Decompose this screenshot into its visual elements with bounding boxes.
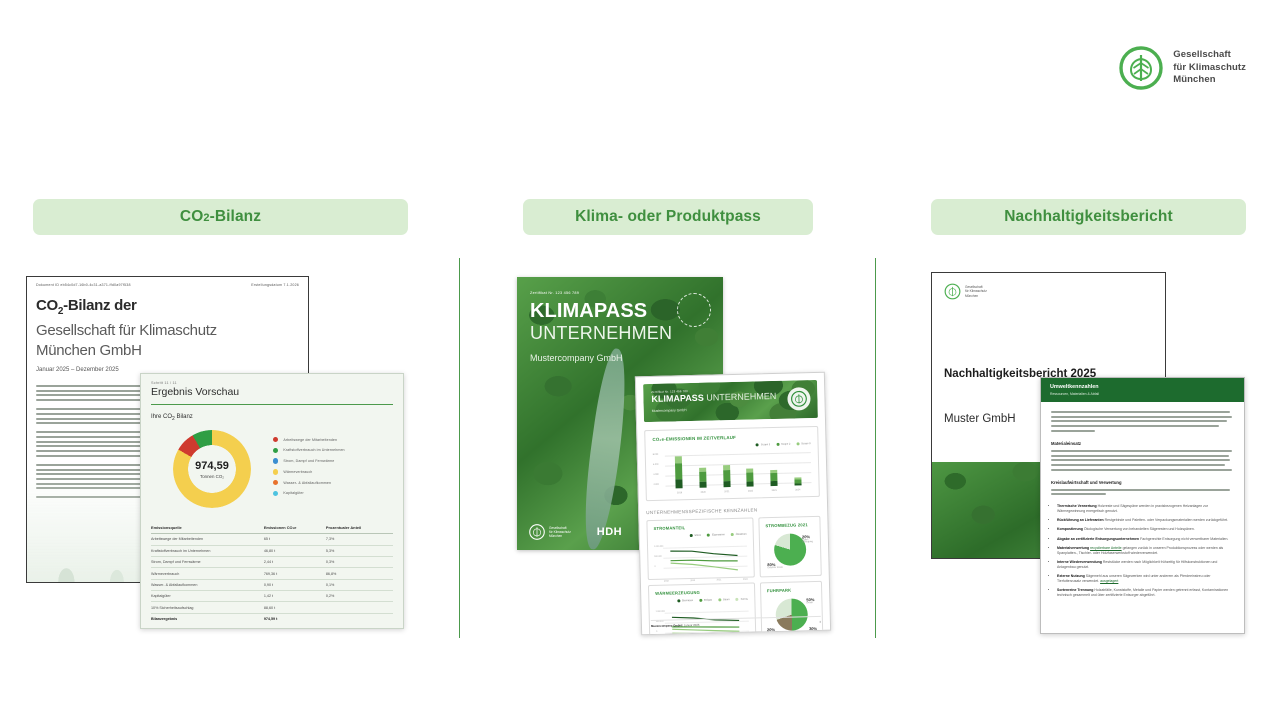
table-row: Wärmeverbrauch769,36 t86,8%	[151, 568, 393, 579]
legend-item: Wasser- & Abfallaufkommen	[273, 480, 345, 485]
legend-item: Scope 2	[776, 443, 790, 446]
legend-item: Scope 3	[796, 442, 810, 445]
emissions-table-wrapper: Emissionsquelle Emissionen CO₂e Prozentu…	[141, 525, 403, 629]
table-row: Strom, Dampf und Fernwärme2,44 t0,3%	[151, 556, 393, 567]
bar	[699, 468, 706, 488]
column-header-label: CO2-Bilanz	[180, 208, 261, 226]
subsection-body	[1041, 450, 1244, 471]
klimapass-subtitle: UNTERNEHMEN	[530, 322, 710, 344]
legend-label: Wärmeverbrauch	[283, 470, 312, 474]
section-heading: Umweltkennzahlen	[1050, 384, 1235, 390]
leaf-circle-logo-icon	[529, 524, 545, 540]
legend-label: Wasser- & Abfallaufkommen	[283, 481, 331, 485]
legend-item: Scope 1	[756, 443, 770, 446]
col-header-source: Emissionsquelle	[151, 525, 264, 534]
section-header-bar: Umweltkennzahlen Ressourcen, Materialien…	[1041, 378, 1244, 402]
total-value: 974,59 t	[264, 613, 326, 624]
kpi-value: 20%Eigen-erzeugung	[802, 534, 813, 543]
title-line-3: München GmbH	[36, 341, 299, 361]
document-meta: Dokument ID eb54c0d7-16b0-4c31-a371-ffd0…	[27, 277, 308, 287]
verwertung-bullet-list: Thermische Verwertung Holzreste und Säge…	[1041, 498, 1244, 598]
klimapass-company: Mustercompany GmbH	[530, 353, 710, 363]
document-created-date: Erstellungsdatum 7.1.2026	[251, 283, 299, 287]
report-brand-text: Gesellschaft für Klimaschutz München	[965, 285, 987, 298]
table-row: Kapitalgüter1,42 t0,2%	[151, 591, 393, 602]
certificate-number: Zertifikat Nr. 123 456 789	[530, 291, 710, 295]
donut-total-unit: Tonnen CO₂	[200, 474, 224, 479]
legend-label: Strom, Dampf und Fernwärme	[283, 459, 334, 463]
footer-page-number: 3	[819, 620, 821, 624]
banner-company: Mustercompany GmbH	[652, 405, 810, 413]
klimapass-title: KLIMAPASS	[530, 300, 710, 322]
table-row: 10% Sicherheitsaufschlag88,60 t	[151, 602, 393, 613]
col-header-share: Prozentualer Anteil	[326, 525, 393, 534]
section-subheading: Ressourcen, Materialien & Abfall	[1050, 392, 1235, 396]
title-line-2: Gesellschaft für Klimaschutz	[36, 321, 299, 341]
column-divider-2	[875, 258, 876, 638]
emissions-donut-section: 974,59 Tonnen CO₂ Arbeitswege der Mitarb…	[151, 430, 393, 508]
list-item: Kompostierung Ökologische Verwertung von…	[1057, 527, 1234, 532]
column-header-label: Nachhaltigkeitsbericht	[1004, 208, 1172, 226]
kpi-title: STROMBEZUG 2021	[765, 522, 813, 528]
subsection-body-2	[1041, 489, 1244, 496]
donut-legend: Arbeitswege der Mitarbeitenden Kraftstof…	[273, 437, 345, 502]
legend-label: Scope 2	[781, 443, 790, 446]
subsection-title-materialeinsatz: Materialeinsatz	[1041, 441, 1244, 446]
bar	[723, 465, 731, 487]
bar	[675, 456, 683, 488]
legend-item: Kapitalgüter	[273, 491, 345, 496]
leaf-circle-logo-icon	[944, 283, 961, 300]
kpi-value: 30%Benzin	[809, 626, 817, 633]
donut-total-value: 974,59	[195, 460, 229, 472]
card-heading: Ergebnis Vorschau	[151, 386, 393, 398]
emissions-table: Emissionsquelle Emissionen CO₂e Prozentu…	[151, 525, 393, 624]
table-total-row: Bilanzergebnis 974,59 t	[151, 613, 393, 624]
kpi-title: FUHRPARK	[767, 587, 815, 593]
gkm-logo: Gesellschaft für Klimaschutz München	[529, 524, 571, 540]
column-divider-1	[459, 258, 460, 638]
legend-color-swatch	[756, 443, 759, 446]
legend-color-swatch	[796, 442, 799, 445]
kpi-card-stromanteil: STROMANTEIL Strom Eigenstrom Ökostrom 1.…	[646, 518, 754, 581]
kpi-section-title: UNTERNEHMENSSPEZIFISCHE KENNZAHLEN	[646, 506, 820, 515]
total-label: Bilanzergebnis	[151, 613, 264, 624]
document-title: CO2-Bilanz der Gesellschaft für Klimasch…	[27, 287, 308, 361]
page-banner: Zertifikat Nr. 123 456 789 KLIMAPASS UNT…	[643, 380, 818, 422]
column-header-klimapass[interactable]: Klima- oder Produktpass	[523, 199, 813, 235]
card-ergebnis-vorschau[interactable]: Schritt 11 / 11 Ergebnis Vorschau Ihre C…	[140, 373, 404, 629]
legend-item: Strom, Dampf und Fernwärme	[273, 458, 345, 463]
card-emissions-timeline: CO₂e-EMISSIONEN IM ZEITVERLAUF Scope 1 S…	[644, 426, 820, 501]
reporting-period: Januar 2025 – Dezember 2025	[27, 361, 308, 373]
legend-label: Scope 3	[801, 442, 810, 445]
legend-color-swatch	[273, 437, 278, 442]
legend-label: Kapitalgüter	[283, 491, 303, 495]
document-klimapass-inner-page[interactable]: Zertifikat Nr. 123 456 789 KLIMAPASS UNT…	[635, 372, 831, 636]
list-item: Thermische Verwertung Holzreste und Säge…	[1057, 504, 1234, 514]
emissions-donut-chart: 974,59 Tonnen CO₂	[173, 430, 251, 508]
kpi-title: WÄRMEERZEUGUNG	[655, 589, 748, 596]
kpi-value: 50%Diesel	[806, 597, 814, 604]
kpi-value: 80%Externer Strom	[767, 562, 783, 569]
report-brand-logo: Gesellschaft für Klimaschutz München	[932, 273, 1165, 300]
subsection-title-kreislaufwirtschaft: Kreislaufwirtschaft und Verwertung	[1041, 480, 1244, 485]
bar	[746, 468, 753, 486]
legend-label: Arbeitswege der Mitarbeitenden	[283, 438, 337, 442]
table-row: Arbeitswege der Mitarbeitenden65 t7,3%	[151, 534, 393, 545]
wizard-step-indicator: Schritt 11 / 11	[151, 381, 393, 385]
card-subheading: Ihre CO2 Bilanz	[151, 414, 393, 422]
list-item: Sortenreine Trennung Holzabfälle, Kunsts…	[1057, 588, 1234, 598]
table-row: Kraftstoffverbrauch im Unternehmen46,80 …	[151, 545, 393, 556]
list-item: Interne Wiederverwendung Reststücke werd…	[1057, 560, 1234, 570]
kpi-value: 20%Elektro	[767, 627, 775, 634]
partner-logo: HDH	[597, 526, 622, 538]
legend-label: Scope 1	[761, 443, 770, 446]
intro-paragraph	[1041, 402, 1244, 432]
col-header-emissions: Emissionen CO₂e	[264, 525, 326, 534]
bar	[770, 470, 777, 486]
legend-item: Arbeitswege der Mitarbeitenden	[273, 437, 345, 442]
legend-color-swatch	[273, 448, 278, 453]
list-item: Rückführung an Lieferanten Restgebinde u…	[1057, 518, 1234, 523]
table-header-row: Emissionsquelle Emissionen CO₂e Prozentu…	[151, 525, 393, 534]
column-header-co2-bilanz[interactable]: CO2-Bilanz	[33, 199, 408, 235]
heading-underline	[151, 404, 393, 405]
leaf-circle-logo-icon	[1119, 46, 1163, 90]
legend-color-swatch	[273, 491, 278, 496]
legend-color-swatch	[273, 458, 278, 463]
brand-logo: Gesellschaft für Klimaschutz München	[1119, 46, 1246, 90]
gkm-logo-text: Gesellschaft für Klimaschutz München	[549, 526, 571, 538]
cover-footer-logos: Gesellschaft für Klimaschutz München HDH	[529, 524, 622, 540]
list-item: Materialverwertung recyclierbare Anteile…	[1057, 546, 1234, 556]
brand-name: Gesellschaft für Klimaschutz München	[1173, 49, 1246, 87]
legend-color-swatch	[776, 443, 779, 446]
legend-label: Kraftstoffverbrauch im Unternehmen	[283, 448, 344, 452]
document-id: Dokument ID eb54c0d7-16b0-4c31-a371-ffd0…	[36, 283, 131, 287]
bar	[794, 477, 801, 485]
legend-color-swatch	[273, 480, 278, 485]
table-row: Wasser- & Abfallaufkommen0,90 t0,1%	[151, 579, 393, 590]
kpi-card-strombezug: STROMBEZUG 2021 20%Eigen-erzeugung 80%Ex…	[758, 516, 822, 577]
kpi-line-chart: 1.000.000500.0000 2019202020212022	[654, 540, 748, 582]
emissions-bar-chart: 8.0006.000 4.0002.000 201920202021202220…	[653, 448, 812, 494]
document-umweltkennzahlen-page[interactable]: Umweltkennzahlen Ressourcen, Materialien…	[1040, 377, 1245, 634]
chart-title: CO₂e-EMISSIONEN IM ZEITVERLAUF	[652, 433, 810, 442]
column-header-nachhaltigkeitsbericht[interactable]: Nachhaltigkeitsbericht	[931, 199, 1246, 235]
legend-color-swatch	[273, 469, 278, 474]
legend-item: Wärmeverbrauch	[273, 469, 345, 474]
legend-item: Kraftstoffverbrauch im Unternehmen	[273, 448, 345, 453]
list-item: Externe Nutzung Sägemehl aus unseren Säg…	[1057, 574, 1234, 584]
kpi-pie-chart	[775, 598, 808, 631]
kpi-card-fuhrpark: FUHRPARK 50%Diesel 30%Benzin 20%Elektro	[760, 581, 824, 635]
list-item: Abgabe an zertifizierte Entsorgungsunter…	[1057, 537, 1234, 542]
kpi-title: STROMANTEIL	[654, 524, 747, 531]
title-line-1: CO2-Bilanz der	[36, 296, 299, 321]
column-header-label: Klima- oder Produktpass	[575, 208, 761, 226]
